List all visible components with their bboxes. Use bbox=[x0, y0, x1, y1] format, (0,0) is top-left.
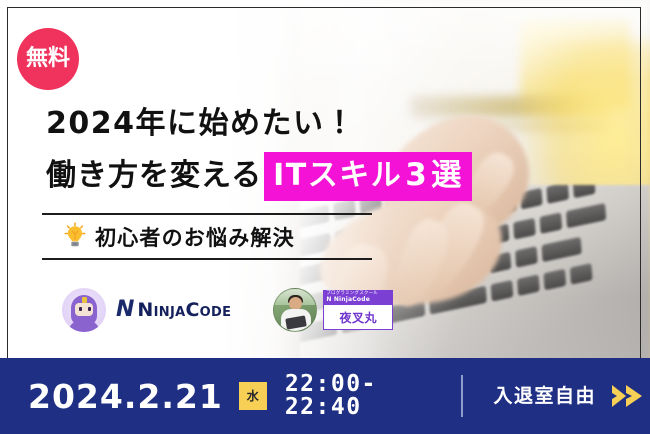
subtitle-row: 初心者のお悩み解決 bbox=[42, 215, 372, 258]
free-badge-label: 無料 bbox=[26, 48, 70, 70]
headline: 2024年に始めたい！ 働き方を変える ITスキル3選 bbox=[46, 104, 476, 201]
headline-line-2: 働き方を変える ITスキル3選 bbox=[46, 152, 476, 202]
subtitle-rule-bottom bbox=[42, 258, 372, 260]
chevron-right-icon bbox=[610, 381, 650, 411]
headline-line-2-prefix: 働き方を変える bbox=[46, 156, 262, 197]
ninjacode-wordmark: NinjaCode bbox=[137, 301, 231, 320]
speaker-photo-icon bbox=[273, 288, 317, 332]
speaker-name: 夜叉丸 bbox=[340, 311, 378, 325]
headline-highlight-suffix: 選 bbox=[431, 158, 463, 193]
footer-divider bbox=[461, 375, 463, 417]
name-badge-brand: N NinjaCode bbox=[326, 296, 370, 303]
day-of-week-label: 水 bbox=[247, 390, 259, 402]
speaker-block: プログラミングスクール N NinjaCode 夜叉丸 bbox=[273, 288, 393, 332]
day-of-week-badge: 水 bbox=[239, 382, 267, 410]
ninjacode-logo: N NinjaCode bbox=[116, 299, 231, 321]
headline-line-1: 2024年に始めたい！ bbox=[46, 104, 476, 145]
ninja-mascot-icon bbox=[62, 288, 106, 332]
subtitle-strip: 初心者のお悩み解決 bbox=[42, 213, 372, 260]
footer-bar: 2024.2.21 水 22:00-22:40 入退室自由 bbox=[0, 358, 650, 434]
headline-highlight-text: ITスキル bbox=[273, 158, 402, 193]
event-date: 2024.2.21 bbox=[28, 380, 223, 413]
ninjacode-mark-icon: N bbox=[116, 299, 132, 321]
lightbulb-icon bbox=[64, 222, 86, 252]
headline-highlight: ITスキル3選 bbox=[264, 152, 472, 202]
speaker-name-badge: プログラミングスクール N NinjaCode 夜叉丸 bbox=[323, 290, 393, 329]
free-badge: 無料 bbox=[17, 28, 79, 90]
name-badge-body: 夜叉丸 bbox=[323, 305, 393, 330]
logo-row: N NinjaCode プログラミングスクール N NinjaCode 夜叉丸 bbox=[62, 288, 393, 332]
webinar-banner: 無料 2024年に始めたい！ 働き方を変える ITスキル3選 bbox=[0, 0, 650, 434]
headline-highlight-number: 3 bbox=[402, 157, 431, 193]
event-time: 22:00-22:40 bbox=[285, 373, 430, 419]
name-badge-brand-strip: プログラミングスクール N NinjaCode bbox=[323, 290, 393, 304]
subtitle-text: 初心者のお悩み解決 bbox=[95, 222, 295, 252]
footer-note: 入退室自由 bbox=[493, 387, 596, 406]
